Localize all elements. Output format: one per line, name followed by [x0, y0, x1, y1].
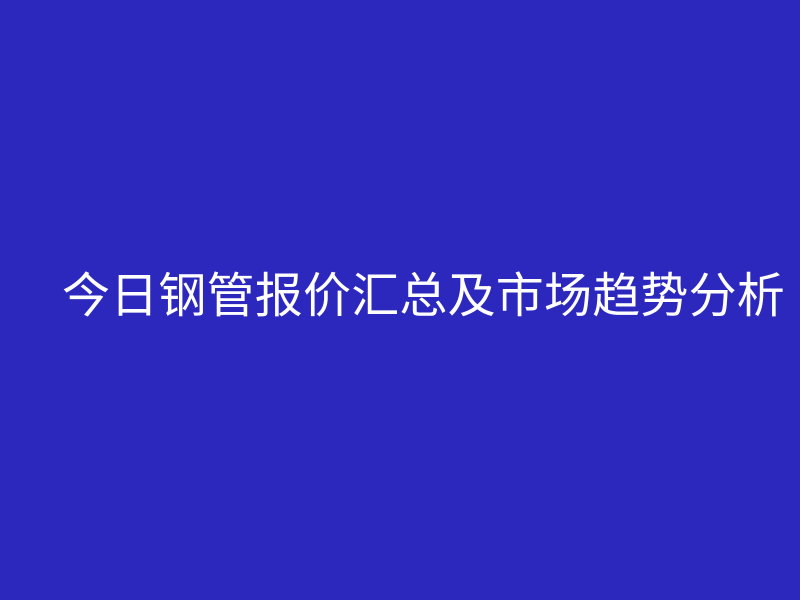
slide-canvas: 今日钢管报价汇总及市场趋势分析: [0, 0, 800, 600]
title-block: 今日钢管报价汇总及市场趋势分析: [0, 0, 800, 600]
page-title: 今日钢管报价汇总及市场趋势分析: [62, 272, 785, 321]
